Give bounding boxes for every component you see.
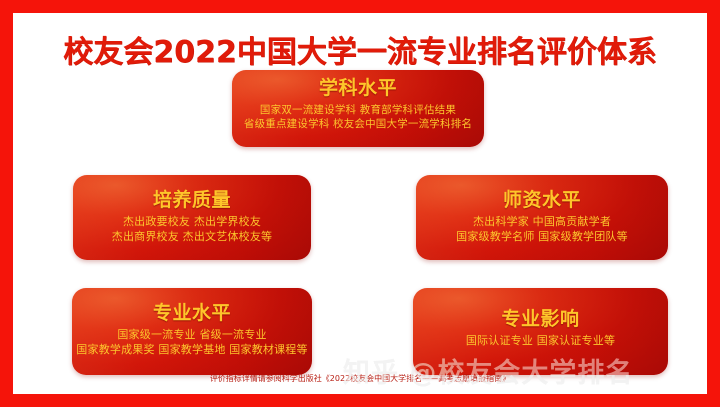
card-title: 学科水平: [232, 79, 484, 99]
card-line: 杰出商界校友 杰出文艺体校友等: [73, 230, 311, 245]
card-title: 师资水平: [416, 191, 668, 211]
card-body: 杰出政要校友 杰出学界校友 杰出商界校友 杰出文艺体校友等: [73, 215, 311, 245]
card-line: 国家教学成果奖 国家教学基地 国家教材课程等: [72, 343, 312, 358]
card-title: 培养质量: [73, 191, 311, 211]
poster-frame: 校友会2022中国大学一流专业排名评价体系 学科水平 国家双一流建设学科 教育部…: [0, 0, 720, 407]
card-line: 国家级教学名师 国家级教学团队等: [416, 230, 668, 245]
card-body: 国家双一流建设学科 教育部学科评估结果 省级重点建设学科 校友会中国大学一流学科…: [232, 103, 484, 131]
card-line: 国际认证专业 国家认证专业等: [413, 334, 668, 349]
card-body: 国家级一流专业 省级一流专业 国家教学成果奖 国家教学基地 国家教材课程等: [72, 328, 312, 358]
poster-canvas: 校友会2022中国大学一流专业排名评价体系 学科水平 国家双一流建设学科 教育部…: [13, 13, 707, 394]
page-title: 校友会2022中国大学一流专业排名评价体系: [13, 27, 707, 71]
criteria-card-zhuanye-yingxiang: 专业影响 国际认证专业 国家认证专业等: [413, 288, 668, 375]
card-body: 杰出科学家 中国高贡献学者 国家级教学名师 国家级教学团队等: [416, 215, 668, 245]
card-title: 专业水平: [72, 304, 312, 324]
card-line: 省级重点建设学科 校友会中国大学一流学科排名: [232, 117, 484, 131]
criteria-card-peiyang: 培养质量 杰出政要校友 杰出学界校友 杰出商界校友 杰出文艺体校友等: [73, 175, 311, 260]
criteria-card-shizi: 师资水平 杰出科学家 中国高贡献学者 国家级教学名师 国家级教学团队等: [416, 175, 668, 260]
card-line: 国家双一流建设学科 教育部学科评估结果: [232, 103, 484, 117]
criteria-card-zhuanye-shuiping: 专业水平 国家级一流专业 省级一流专业 国家教学成果奖 国家教学基地 国家教材课…: [72, 288, 312, 375]
card-line: 杰出科学家 中国高贡献学者: [416, 215, 668, 230]
card-line: 杰出政要校友 杰出学界校友: [73, 215, 311, 230]
card-title: 专业影响: [413, 310, 668, 330]
card-line: 国家级一流专业 省级一流专业: [72, 328, 312, 343]
criteria-card-xueke: 学科水平 国家双一流建设学科 教育部学科评估结果 省级重点建设学科 校友会中国大…: [232, 70, 484, 147]
source-footnote: 评价指标详情请参阅科学出版社《2022校友会中国大学排名——高考志愿填报指南》: [13, 373, 707, 384]
card-body: 国际认证专业 国家认证专业等: [413, 334, 668, 349]
